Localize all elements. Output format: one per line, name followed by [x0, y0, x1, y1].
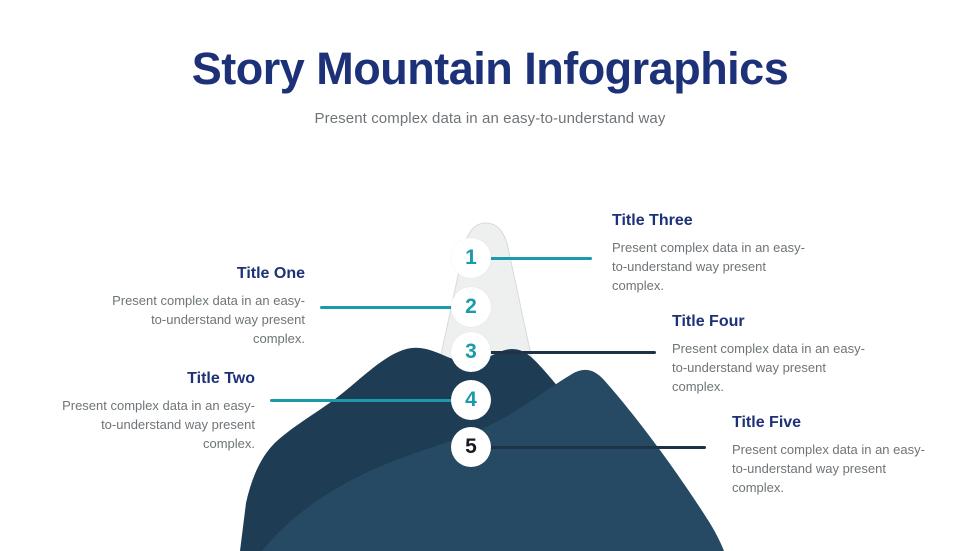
label-five-title: Title Five	[732, 413, 940, 432]
connector-line-three	[468, 351, 656, 354]
label-two-title: Title Two	[47, 369, 255, 388]
marker-3[interactable]: 3	[451, 332, 491, 372]
label-four-title: Title Four	[672, 312, 880, 331]
label-five-body: Present complex data in an easy-to-under…	[732, 441, 940, 498]
label-block-two[interactable]: Title Two Present complex data in an eas…	[47, 369, 255, 454]
label-one-body: Present complex data in an easy-to-under…	[97, 292, 305, 349]
label-block-five[interactable]: Title Five Present complex data in an ea…	[732, 413, 940, 498]
label-block-four[interactable]: Title Four Present complex data in an ea…	[672, 312, 880, 397]
marker-1[interactable]: 1	[451, 238, 491, 278]
marker-4-number: 4	[465, 388, 477, 412]
label-three-body: Present complex data in an easy-to-under…	[612, 239, 820, 296]
marker-4[interactable]: 4	[451, 380, 491, 420]
label-block-three[interactable]: Title Three Present complex data in an e…	[612, 211, 820, 296]
label-one-title: Title One	[97, 264, 305, 283]
marker-3-number: 3	[465, 340, 477, 364]
connector-line-two	[320, 306, 468, 309]
marker-5[interactable]: 5	[451, 427, 491, 467]
label-three-title: Title Three	[612, 211, 820, 230]
label-block-one[interactable]: Title One Present complex data in an eas…	[97, 264, 305, 349]
marker-2[interactable]: 2	[451, 287, 491, 327]
connector-line-five	[468, 446, 706, 449]
marker-5-number: 5	[465, 435, 477, 459]
marker-2-number: 2	[465, 295, 477, 319]
infographic-slide: Story Mountain Infographics Present comp…	[0, 0, 980, 551]
marker-1-number: 1	[465, 246, 477, 270]
label-two-body: Present complex data in an easy-to-under…	[47, 397, 255, 454]
connector-line-four	[270, 399, 468, 402]
label-four-body: Present complex data in an easy-to-under…	[672, 340, 880, 397]
